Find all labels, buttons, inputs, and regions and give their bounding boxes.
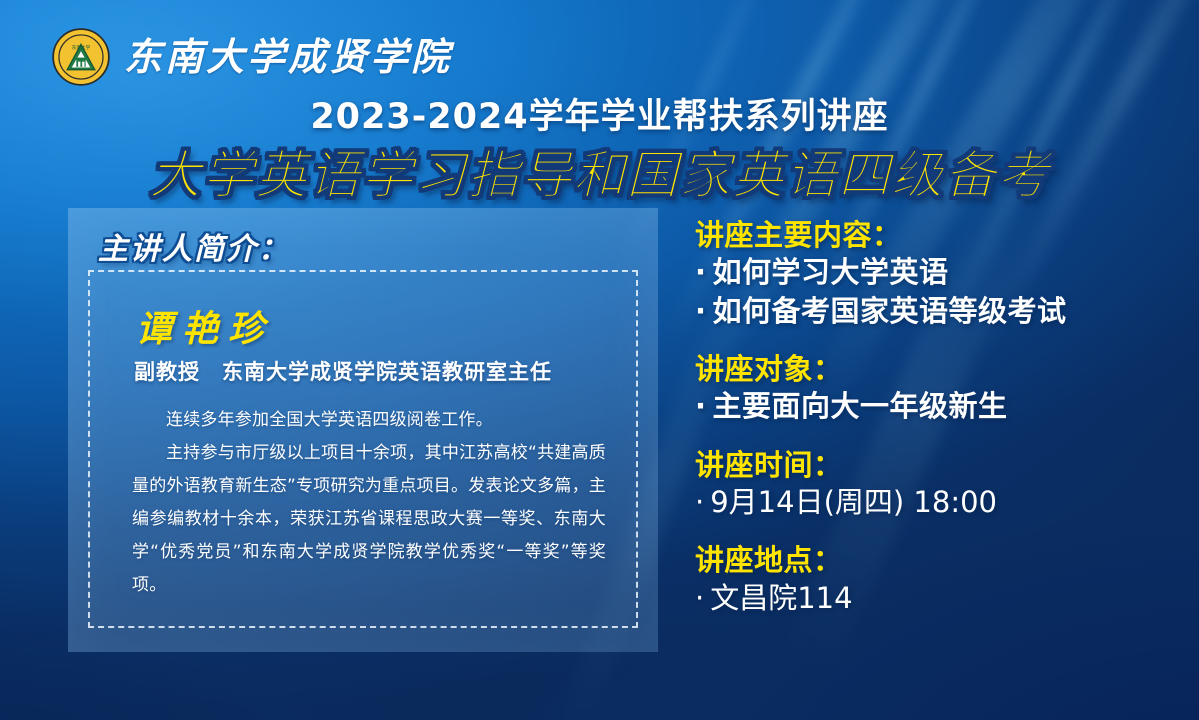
info-item-label: 如何备考国家英语等级考试 [713, 294, 1067, 328]
lecture-poster: 东南大学 东南大学成贤学院 2023-2024学年学业帮扶系列讲座 大学英语学习… [0, 0, 1199, 720]
speaker-role: 副教授 东南大学成贤学院英语教研室主任 [134, 356, 552, 386]
bullet-icon: · [695, 253, 707, 291]
lecture-info-column: 讲座主要内容：·如何学习大学英语·如何备考国家英语等级考试讲座对象：·主要面向大… [695, 218, 1175, 617]
speaker-bio: 连续多年参加全国大学英语四级阅卷工作。主持参与市厅级以上项目十余项，其中江苏高校… [132, 404, 606, 602]
info-item-label: 9月14日(周四) 18:00 [710, 485, 997, 519]
poster-subtitle: 2023-2024学年学业帮扶系列讲座 [0, 88, 1199, 139]
info-section-item: ·如何备考国家英语等级考试 [695, 292, 1175, 330]
university-logo: 东南大学 东南大学成贤学院 [52, 28, 452, 86]
bullet-icon: · [695, 387, 707, 425]
info-section: 讲座对象：·主要面向大一年级新生 [695, 352, 1175, 426]
info-item-label: 主要面向大一年级新生 [713, 389, 1008, 423]
info-section-title: 讲座主要内容： [695, 218, 1175, 253]
info-section-item: ·如何学习大学英语 [695, 253, 1175, 291]
speaker-name: 谭艳珍 [136, 300, 274, 352]
speaker-bio-paragraph: 连续多年参加全国大学英语四级阅卷工作。 [132, 404, 606, 437]
university-logo-text: 东南大学成贤学院 [124, 38, 452, 76]
speaker-profile-card: 主讲人简介： 谭艳珍 副教授 东南大学成贤学院英语教研室主任 连续多年参加全国大… [68, 208, 658, 652]
bullet-icon: · [695, 292, 707, 330]
info-section-item: ·主要面向大一年级新生 [695, 387, 1175, 425]
bullet-icon: · [695, 483, 704, 521]
bullet-icon: · [695, 579, 704, 617]
info-section: 讲座主要内容：·如何学习大学英语·如何备考国家英语等级考试 [695, 218, 1175, 330]
speaker-card-heading: 主讲人简介： [98, 224, 290, 268]
info-item-label: 如何学习大学英语 [713, 255, 949, 289]
speaker-bio-paragraph: 主持参与市厅级以上项目十余项，其中江苏高校“共建高质量的外语教育新生态”专项研究… [132, 437, 606, 602]
info-section-title: 讲座地点： [695, 543, 1175, 578]
poster-title: 大学英语学习指导和国家英语四级备考 [0, 133, 1199, 208]
info-section-title: 讲座时间： [695, 448, 1175, 483]
info-section: 讲座时间：·9月14日(周四) 18:00 [695, 448, 1175, 522]
info-section-title: 讲座对象： [695, 352, 1175, 387]
university-seal-icon: 东南大学 [52, 28, 110, 86]
info-section-item: ·9月14日(周四) 18:00 [695, 483, 1175, 521]
info-section: 讲座地点：·文昌院114 [695, 543, 1175, 617]
speaker-card-dashed-border: 谭艳珍 副教授 东南大学成贤学院英语教研室主任 连续多年参加全国大学英语四级阅卷… [88, 270, 638, 628]
info-item-label: 文昌院114 [710, 581, 852, 615]
info-section-item: ·文昌院114 [695, 579, 1175, 617]
